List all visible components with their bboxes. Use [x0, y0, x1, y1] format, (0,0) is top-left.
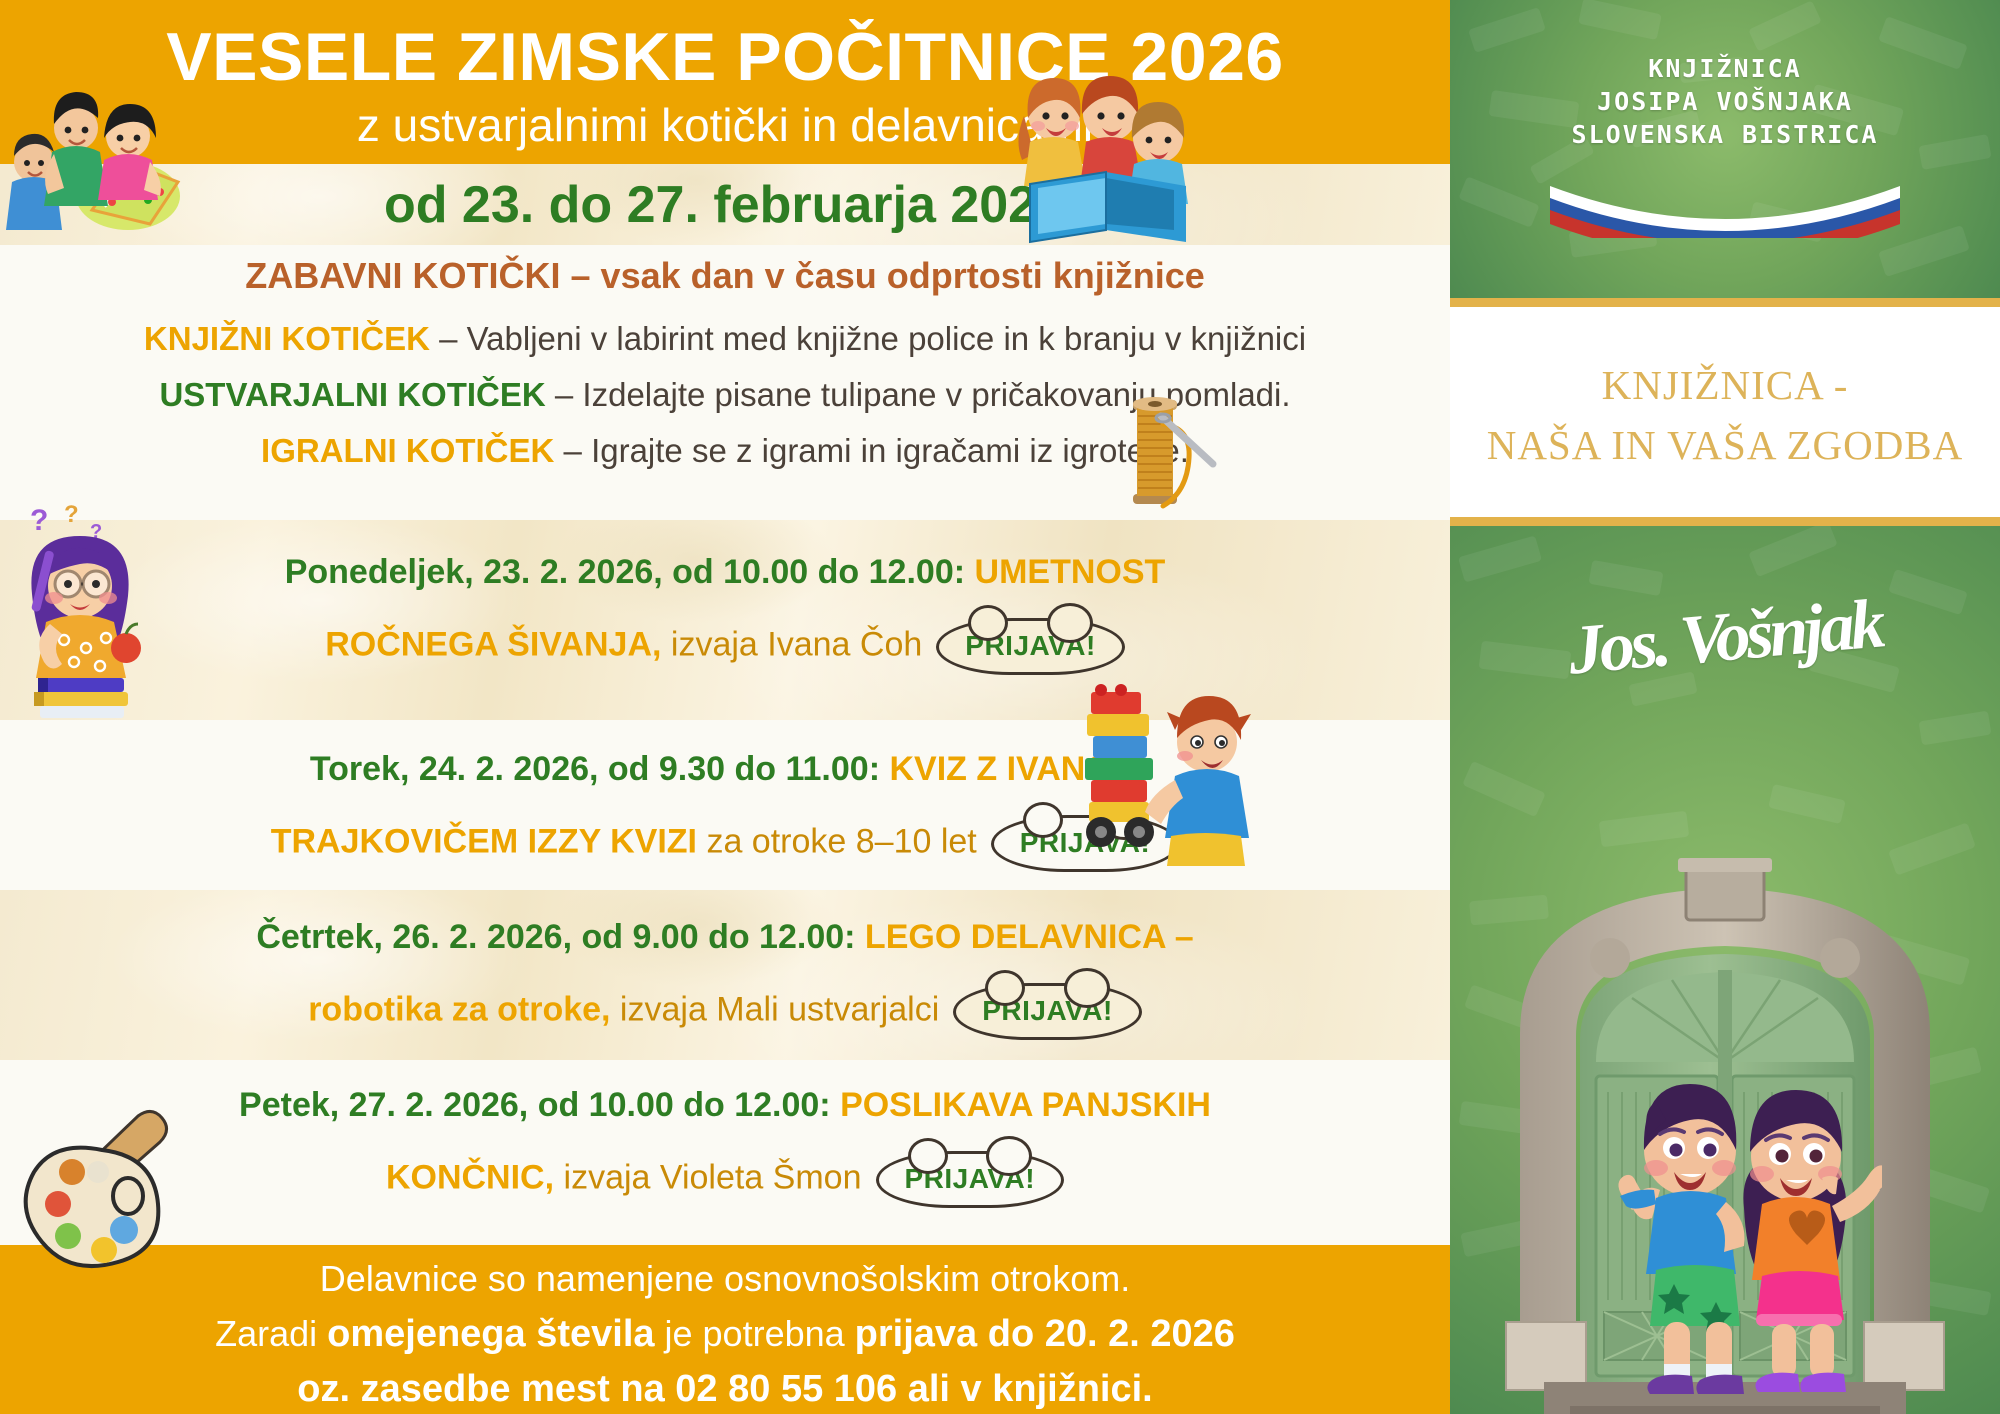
workshop-1-line1: Ponedeljek, 23. 2. 2026, od 10.00 do 12.…	[0, 553, 1450, 592]
poster-sidebar: KNJIŽNICA JOSIPA VOŠNJAKA SLOVENSKA BIST…	[1450, 0, 2000, 1414]
workshop-3-when: Četrtek, 26. 2. 2026, od 9.00 do 12.00:	[256, 918, 855, 956]
footer-l2-d: prijava do 20. 2. 2026	[855, 1313, 1235, 1355]
corner-name-ustvarjalni: USTVARJALNI KOTIČEK	[159, 376, 545, 413]
workshop-4-tail: izvaja Violeta Šmon	[554, 1158, 861, 1196]
page-subtitle: z ustvarjalnimi kotički in delavnicami	[0, 98, 1450, 152]
page-dates: od 23. do 27. februarja 2026	[0, 175, 1450, 235]
poster-root: VESELE ZIMSKE POČITNICE 2026 z ustvarjal…	[0, 0, 2000, 1414]
sidebar-door-panel: Jos. Vošnjak	[1450, 526, 2000, 1414]
footer-line-1: Delavnice so namenjene osnovnošolskim ot…	[0, 1258, 1450, 1300]
footer-line-3: oz. zasedbe mest na 02 80 55 106 ali v k…	[0, 1368, 1450, 1411]
kids-playing-boardgame-icon	[0, 78, 200, 230]
sidebar-divider-bottom	[1450, 517, 2000, 526]
corner-row-ustvarjalni: USTVARJALNI KOTIČEK – Izdelajte pisane t…	[0, 376, 1450, 414]
slovenian-flag-book-icon	[1450, 180, 2000, 238]
footer-l2-a: Zaradi	[215, 1313, 327, 1354]
sp-4	[831, 1086, 840, 1124]
corner-sep-knjizni	[430, 320, 439, 357]
sidebar-logo-panel: KNJIŽNICA JOSIPA VOŠNJAKA SLOVENSKA BIST…	[1450, 0, 2000, 298]
corner-row-knjizni: KNJIŽNI KOTIČEK – Vabljeni v labirint me…	[0, 320, 1450, 358]
thread-spool-needle-icon	[1105, 390, 1225, 540]
sidebar-slogan-line2: NAŠA IN VAŠA ZGODBA	[1450, 415, 2000, 475]
footer-line-2: Zaradi omejenega števila je potrebna pri…	[0, 1313, 1450, 1356]
corner-sep2-knjizni	[457, 320, 466, 357]
sp-3	[855, 918, 864, 956]
corner-name-knjizni: KNJIŽNI KOTIČEK	[144, 320, 430, 357]
workshop-1-title-b: ROČNEGA ŠIVANJA,	[325, 625, 661, 663]
workshop-4-signup-badge[interactable]: PRIJAVA!	[876, 1151, 1065, 1208]
page-title: VESELE ZIMSKE POČITNICE 2026	[0, 18, 1450, 96]
workshop-1-line2: ROČNEGA ŠIVANJA, izvaja Ivana ČohPRIJAVA…	[0, 618, 1450, 675]
corner-sep2-igralni	[582, 432, 591, 469]
workshop-3-title-b: robotika za otroke,	[308, 990, 610, 1028]
girl-with-books-icon: ? ? ?	[8, 498, 188, 718]
corner-sep-igralni	[554, 432, 563, 469]
workshop-3-signup-badge[interactable]: PRIJAVA!	[953, 983, 1142, 1040]
corner-desc-igralni: Igrajte se z igrami in igračami iz igrot…	[591, 432, 1189, 469]
corner-sep-ustvarjalni	[546, 376, 555, 413]
workshop-3-line2: robotika za otroke, izvaja Mali ustvarja…	[0, 983, 1450, 1040]
sidebar-slogan-line1: KNJIŽNICA -	[1450, 355, 2000, 415]
workshop-4-when: Petek, 27. 2. 2026, od 10.00 do 12.00:	[239, 1086, 831, 1124]
workshop-4-line1: Petek, 27. 2. 2026, od 10.00 do 12.00: P…	[0, 1086, 1450, 1125]
library-logo-line2: JOSIPA VOŠNJAKA	[1450, 85, 2000, 118]
workshop-1-signup-badge[interactable]: PRIJAVA!	[936, 618, 1125, 675]
waving-boy-and-girl-icon	[1612, 1078, 1882, 1404]
corner-dash-knjizni: –	[439, 320, 457, 357]
workshop-3-title-a: LEGO DELAVNICA –	[865, 918, 1194, 956]
footer-l2-b: omejenega števila	[327, 1313, 654, 1355]
corners-heading: ZABAVNI KOTIČKI – vsak dan v času odprto…	[0, 255, 1450, 297]
boy-with-lego-robot-icon	[1075, 672, 1275, 872]
workshop-2-title-b: TRAJKOVIČEM IZZY KVIZI	[271, 822, 697, 860]
sp-1	[965, 553, 974, 591]
corner-dash-igralni: –	[564, 432, 582, 469]
corner-desc-knjizni: Vabljeni v labirint med knjižne police i…	[467, 320, 1306, 357]
workshop-1-when: Ponedeljek, 23. 2. 2026, od 10.00 do 12.…	[285, 553, 965, 591]
poster-main-column: VESELE ZIMSKE POČITNICE 2026 z ustvarjal…	[0, 0, 1450, 1414]
workshop-1-title-a: UMETNOST	[975, 553, 1166, 591]
workshop-4-title-b: KONČNIC,	[386, 1158, 554, 1196]
svg-text:?: ?	[64, 501, 79, 528]
sidebar-slogan-panel: KNJIŽNICA - NAŠA IN VAŠA ZGODBA	[1450, 307, 2000, 517]
workshop-3-line1: Četrtek, 26. 2. 2026, od 9.00 do 12.00: …	[0, 918, 1450, 957]
corner-row-igralni: IGRALNI KOTIČEK – Igrajte se z igrami in…	[0, 432, 1450, 470]
workshop-1-tail: izvaja Ivana Čoh	[661, 625, 922, 663]
kids-reading-book-icon	[1010, 72, 1200, 257]
sidebar-divider-top	[1450, 298, 2000, 307]
corner-dash-ustvarjalni: –	[555, 376, 573, 413]
workshop-3-tail: izvaja Mali ustvarjalci	[610, 990, 939, 1028]
workshop-2-tail: za otroke 8–10 let	[697, 822, 977, 860]
library-logo-line3: SLOVENSKA BISTRICA	[1450, 118, 2000, 151]
paint-palette-brush-icon	[20, 1100, 200, 1270]
corner-name-igralni: IGRALNI KOTIČEK	[261, 432, 554, 469]
svg-text:?: ?	[30, 504, 48, 537]
library-logo-line1: KNJIŽNICA	[1450, 52, 2000, 85]
workshop-4-line2: KONČNIC, izvaja Violeta ŠmonPRIJAVA!	[0, 1151, 1450, 1208]
footer-l2-c: je potrebna	[655, 1313, 855, 1354]
workshop-2-when: Torek, 24. 2. 2026, od 9.30 do 11.00:	[310, 750, 880, 788]
workshop-4-title-a: POSLIKAVA PANJSKIH	[840, 1086, 1211, 1124]
